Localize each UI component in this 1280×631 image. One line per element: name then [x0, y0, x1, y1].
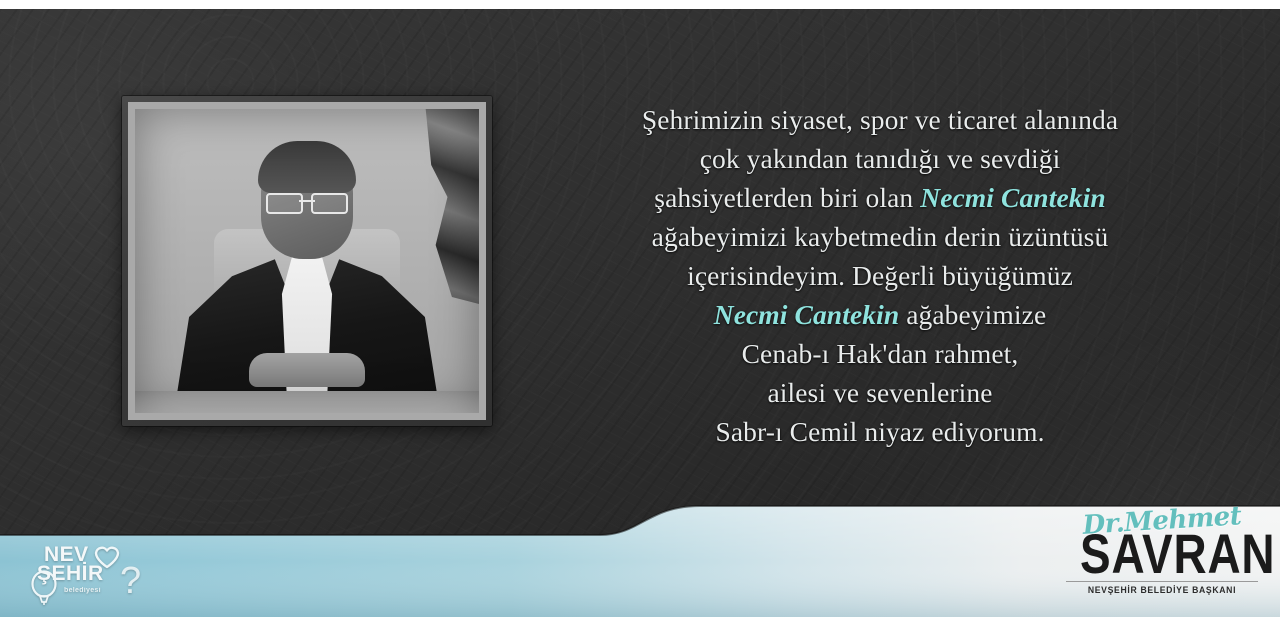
message-line-1: Şehrimizin siyaset, spor ve ticaret alan…: [540, 100, 1220, 139]
message-line-3-text: şahsiyetlerden biri olan: [654, 182, 920, 213]
portrait-mat: [128, 102, 486, 420]
logo-question-mark: ?: [120, 562, 141, 600]
portrait-frame: [122, 96, 492, 426]
mayor-signature: Dr.Mehmet SAVRAN NEVŞEHİR BELEDİYE BAŞKA…: [1062, 508, 1262, 612]
message-line-6: Necmi Cantekin ağabeyimize: [540, 295, 1220, 334]
memorial-card: Şehrimizin siyaset, spor ve ticaret alan…: [0, 0, 1280, 631]
deceased-name-first: Necmi Cantekin: [920, 182, 1106, 213]
condolence-message: Şehrimizin siyaset, spor ve ticaret alan…: [540, 100, 1220, 451]
message-line-2: çok yakından tanıdığı ve sevdiği: [540, 139, 1220, 178]
logo-subtitle: belediyesi: [64, 587, 101, 594]
message-line-5: içerisindeyim. Değerli büyüğümüz: [540, 256, 1220, 295]
bottom-white-strip: [0, 617, 1280, 631]
signature-surname: SAVRAN: [1080, 528, 1244, 580]
top-white-strip: [0, 0, 1280, 9]
deceased-name-second: Necmi Cantekin: [714, 299, 900, 330]
portrait-photo: [135, 109, 479, 413]
message-line-9: Sabr-ı Cemil niyaz ediyorum.: [540, 412, 1220, 451]
message-line-3: şahsiyetlerden biri olan Necmi Cantekin: [540, 178, 1220, 217]
photo-vignette: [135, 109, 479, 413]
message-line-6-text: ağabeyimize: [899, 299, 1046, 330]
message-line-7: Cenab-ı Hak'dan rahmet,: [540, 334, 1220, 373]
nevsehir-municipality-logo: NEV ŞEHİR ? belediyesi: [28, 540, 146, 612]
message-line-8: ailesi ve sevenlerine: [540, 373, 1220, 412]
signature-role: NEVŞEHİR BELEDİYE BAŞKANI: [1066, 585, 1258, 595]
hot-air-balloon-icon: [30, 570, 58, 606]
message-line-4: ağabeyimizi kaybetmedin derin üzüntüsü: [540, 217, 1220, 256]
